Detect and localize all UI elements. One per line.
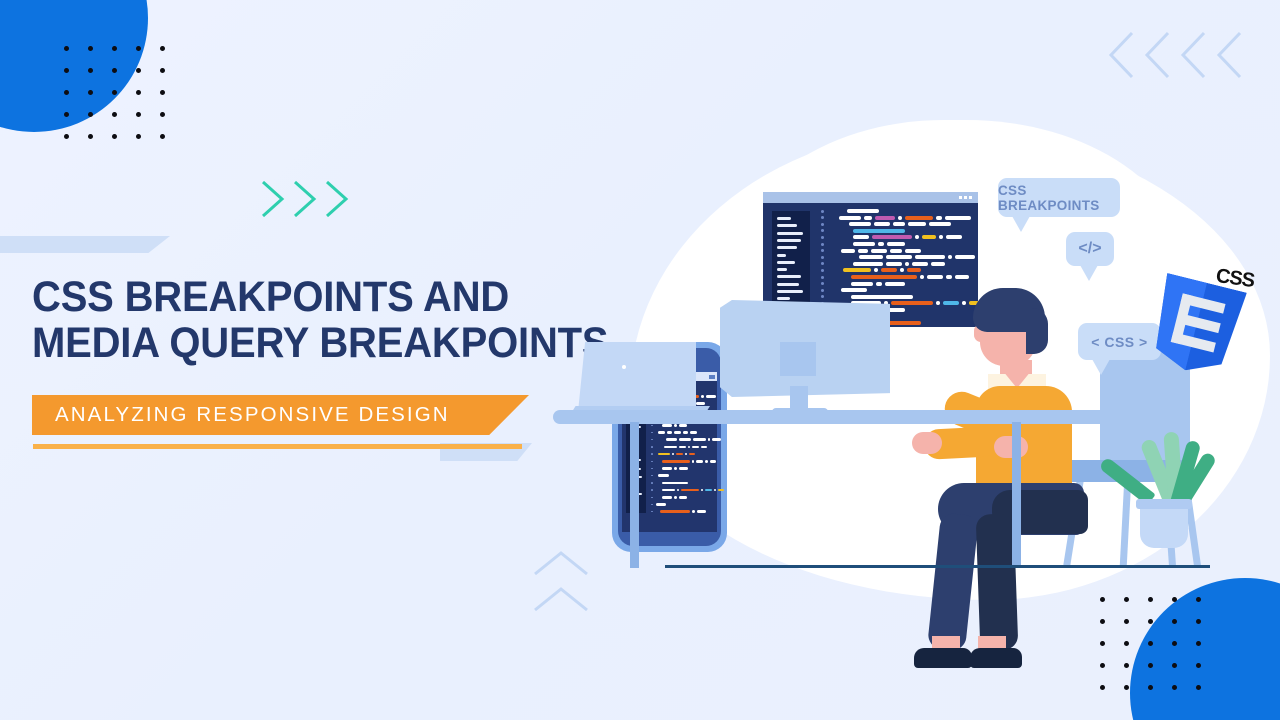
shoe-left [914,648,972,668]
desk-leg [630,422,639,568]
accent-banner-top [0,236,170,253]
dot-grid-bottom-right [1100,597,1220,707]
code-line-segment [853,235,869,239]
code-line-segment [878,242,884,246]
code-line-segment [885,282,905,286]
hair-side [1026,308,1048,354]
css-breakpoints-bubble-text: CSS BREAKPOINTS [998,183,1120,213]
desk-leg [1012,422,1021,568]
editor-sidebar-line [777,290,803,293]
phone-code-line-segment [701,395,704,398]
code-line-segment [929,222,951,226]
code-line-segment [915,255,945,259]
phone-code-line-segment [690,431,697,434]
title-line-2: MEDIA QUERY BREAKPOINTS [32,320,627,366]
phone-code-line-segment [662,482,688,485]
leg-left [927,512,979,651]
phone-code-line-segment [676,453,683,456]
subtitle-banner: ANALYZING RESPONSIVE DESIGN [32,395,529,435]
plant-pot-rim [1136,499,1192,509]
editor-gutter-dot [821,210,824,213]
phone-code-line-segment [664,446,677,449]
subtitle-underline [33,444,522,449]
code-line-segment [886,262,902,266]
phone-code-line-segment [662,460,690,463]
code-line-segment [905,249,921,253]
editor-sidebar-line [777,275,801,278]
phone-gutter-dot [651,461,653,463]
code-line-segment [851,282,873,286]
monitor [720,300,890,415]
phone-code-line-segment [692,446,699,449]
editor-gutter-dot [821,262,824,265]
phone-code-line-segment [696,460,703,463]
editor-sidebar-line [777,239,801,242]
phone-code-line-segment [674,496,677,499]
page-title: CSS BREAKPOINTS AND MEDIA QUERY BREAKPOI… [32,274,672,366]
editor-gutter-dot [821,229,824,232]
code-line-segment [912,262,928,266]
phone-code-line-segment [658,453,670,456]
phone-code-line-segment [696,402,705,405]
editor-gutter-dot [821,289,824,292]
phone-code-line-segment [660,510,690,513]
phone-code-line-segment [708,438,710,441]
monitor-screen-inner [780,342,816,376]
editor-sidebar-line [777,217,791,220]
phone-code-line-segment [679,496,687,499]
phone-gutter-dot [651,446,653,448]
code-line-segment [907,268,921,272]
phone-code-line-segment [718,489,724,492]
editor-gutter-dot [821,249,824,252]
code-line-segment [875,216,895,220]
code-line-segment [851,275,917,279]
code-line-segment [905,262,909,266]
phone-gutter-dot [651,489,653,491]
code-line-segment [843,268,871,272]
phone-url-button [709,375,715,379]
code-line-segment [853,242,875,246]
phone-code-line-segment [658,474,669,477]
code-line-segment [908,222,926,226]
code-line-segment [915,235,919,239]
code-line-segment [955,255,975,259]
css-tag-bubble-text: < CSS > [1091,334,1147,350]
code-line-segment [948,255,952,259]
code-tag-bubble-text: </> [1078,240,1101,258]
phone-code-line-segment [705,460,708,463]
editor-sidebar-line [777,232,803,235]
code-line-segment [849,222,871,226]
editor-gutter-dot [821,256,824,259]
code-line-segment [872,235,912,239]
editor-gutter-dot [821,276,824,279]
floor-line [665,565,1210,568]
editor-gutter-dot [821,269,824,272]
phone-code-line-segment [692,460,694,463]
title-line-1: CSS BREAKPOINTS AND [32,274,627,320]
code-line-segment [905,216,933,220]
editor-sidebar-line [777,254,786,257]
editor-gutter-dot [821,295,824,298]
phone-gutter-dot [651,482,653,484]
dot-grid-top-left [64,46,184,156]
css-breakpoints-bubble: CSS BREAKPOINTS [998,178,1120,217]
subtitle-text: ANALYZING RESPONSIVE DESIGN [55,403,450,427]
phone-code-line-segment [683,431,688,434]
code-line-segment [871,249,887,253]
phone-code-line-segment [679,424,687,427]
hand-left [912,432,942,454]
phone-code-line-segment [674,424,677,427]
phone-code-line-segment [697,510,706,513]
phone-code-line-segment [674,431,681,434]
editor-sidebar-line [777,224,797,227]
phone-code-line-segment [662,424,672,427]
bubble-tail [1092,359,1110,375]
phone-code-line-segment [679,446,686,449]
phone-code-line-segment [667,431,672,434]
phone-code-line-segment [710,460,716,463]
code-line-segment [936,216,942,220]
phone-code-line-segment [666,438,677,441]
code-line-segment [922,235,936,239]
bubble-tail [1012,216,1030,232]
phone-code-line-segment [658,431,665,434]
editor-sidebar-line [777,283,799,286]
phone-code-line-segment [662,467,672,470]
editor-sidebar-line [777,246,797,249]
code-line-segment [859,255,883,259]
code-line-segment [881,268,897,272]
code-line-segment [876,282,882,286]
laptop-logo-dot [622,365,626,369]
code-line-segment [841,249,855,253]
code-line-segment [874,222,890,226]
chevrons-up-icon [530,548,594,616]
phone-gutter-dot [651,453,653,455]
code-line-segment [890,249,902,253]
code-line-segment [887,242,905,246]
editor-title-bar [763,192,978,203]
code-line-segment [851,295,913,299]
code-line-segment [853,262,883,266]
phone-code-line-segment [701,446,707,449]
editor-sidebar-line [777,268,787,271]
editor-gutter-dot [821,282,824,285]
phone-code-line-segment [674,467,677,470]
editor-gutter-dot [821,216,824,219]
plant-pot [1140,503,1188,548]
phone-code-line-segment [656,503,666,506]
phone-gutter-dot [651,497,653,499]
code-line-segment [858,249,868,253]
poster-canvas: CSS BREAKPOINTS AND MEDIA QUERY BREAKPOI… [0,0,1280,720]
hand-right [994,436,1028,458]
code-line-segment [898,216,902,220]
code-line-segment [839,216,861,220]
desk-top [553,410,1163,424]
shoe-right [970,648,1022,668]
phone-gutter-dot [651,425,653,427]
phone-code-line-segment [712,438,721,441]
phone-code-line-segment [706,395,716,398]
code-line-segment [853,229,905,233]
code-line-segment [886,255,912,259]
phone-code-line-segment [693,438,706,441]
code-line-segment [945,216,971,220]
code-line-segment [939,235,943,239]
editor-gutter-dot [821,223,824,226]
chevrons-right-icon [258,178,353,220]
editor-gutter-dot [821,236,824,239]
code-line-segment [893,222,905,226]
code-line-segment [946,235,962,239]
illustration: CSS BREAKPOINTS </> < CSS > CSS [600,110,1280,610]
phone-code-line-segment [662,489,675,492]
code-line-segment [864,216,872,220]
code-line-segment [900,268,904,272]
code-line-segment [931,262,945,266]
code-line-segment [841,288,867,292]
code-line-segment [874,268,878,272]
phone-code-line-segment [679,467,688,470]
editor-gutter-dot [821,243,824,246]
phone-code-line-segment [681,489,699,492]
phone-code-line-segment [705,489,712,492]
phone-code-line-segment [679,438,691,441]
editor-sidebar-line [777,261,795,264]
chevrons-left-icon [1108,30,1248,80]
phone-code-line-segment [662,496,672,499]
window-control-dots-icon [959,196,972,199]
bubble-tail [1080,265,1098,281]
code-line-segment [847,209,879,213]
code-tag-bubble: </> [1066,232,1114,266]
laptop-screen [578,342,696,412]
